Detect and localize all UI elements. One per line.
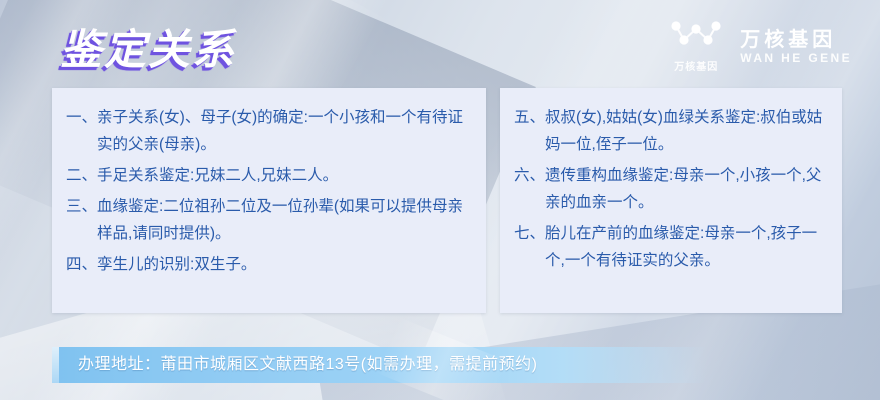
poster-canvas: 鉴定关系 <box>0 0 880 400</box>
address-banner-text: 办理地址：莆田市城厢区文献西路13号(如需办理，需提前预约) <box>78 347 537 383</box>
list-item-text: 胎儿在产前的血缘鉴定:母亲一个,孩子一个,一个有待证实的父亲。 <box>545 220 828 274</box>
panel-right: 五、 叔叔(女),姑姑(女)血绿关系鉴定:叔伯或姑妈一位,侄子一位。 六、 遗传… <box>500 88 842 313</box>
list-item: 三、 血缘鉴定:二位祖孙二位及一位孙辈(如果可以提供母亲样品,请同时提供)。 <box>66 193 472 247</box>
address-banner: 办理地址：莆田市城厢区文献西路13号(如需办理，需提前预约) <box>52 347 707 383</box>
banner-left-edge <box>52 347 59 383</box>
brand-logo: 万核基因 万核基因 WAN HE GENE <box>668 20 852 73</box>
brand-mark-caption: 万核基因 <box>674 58 718 73</box>
list-item-number: 一、 <box>66 104 97 158</box>
list-item-number: 三、 <box>66 193 97 247</box>
brand-mark: 万核基因 <box>668 20 724 73</box>
page-title: 鉴定关系 <box>60 16 236 77</box>
list-item: 五、 叔叔(女),姑姑(女)血绿关系鉴定:叔伯或姑妈一位,侄子一位。 <box>514 104 828 158</box>
brand-name-en: WAN HE GENE <box>740 52 852 64</box>
list-item: 六、 遗传重构血缘鉴定:母亲一个,小孩一个,父亲的血亲一个。 <box>514 162 828 216</box>
brand-text: 万核基因 WAN HE GENE <box>740 30 852 64</box>
list-item-number: 四、 <box>66 251 97 278</box>
list-item-text: 手足关系鉴定:兄妹二人,兄妹二人。 <box>97 162 472 189</box>
list-item-number: 七、 <box>514 220 545 274</box>
molecule-nodes-icon <box>668 20 724 55</box>
list-item-text: 叔叔(女),姑姑(女)血绿关系鉴定:叔伯或姑妈一位,侄子一位。 <box>545 104 828 158</box>
list-item-text: 亲子关系(女)、母子(女)的确定:一个小孩和一个有待证实的父亲(母亲)。 <box>97 104 472 158</box>
list-item: 二、 手足关系鉴定:兄妹二人,兄妹二人。 <box>66 162 472 189</box>
content-panels: 一、 亲子关系(女)、母子(女)的确定:一个小孩和一个有待证实的父亲(母亲)。 … <box>52 88 842 313</box>
list-item: 七、 胎儿在产前的血缘鉴定:母亲一个,孩子一个,一个有待证实的父亲。 <box>514 220 828 274</box>
list-item-text: 血缘鉴定:二位祖孙二位及一位孙辈(如果可以提供母亲样品,请同时提供)。 <box>97 193 472 247</box>
brand-name-cn: 万核基因 <box>740 30 852 50</box>
list-item-number: 六、 <box>514 162 545 216</box>
list-item-text: 孪生儿的识别:双生子。 <box>97 251 472 278</box>
list-item-number: 二、 <box>66 162 97 189</box>
list-item: 四、 孪生儿的识别:双生子。 <box>66 251 472 278</box>
list-item-number: 五、 <box>514 104 545 158</box>
list-item-text: 遗传重构血缘鉴定:母亲一个,小孩一个,父亲的血亲一个。 <box>545 162 828 216</box>
list-item: 一、 亲子关系(女)、母子(女)的确定:一个小孩和一个有待证实的父亲(母亲)。 <box>66 104 472 158</box>
panel-left: 一、 亲子关系(女)、母子(女)的确定:一个小孩和一个有待证实的父亲(母亲)。 … <box>52 88 486 313</box>
